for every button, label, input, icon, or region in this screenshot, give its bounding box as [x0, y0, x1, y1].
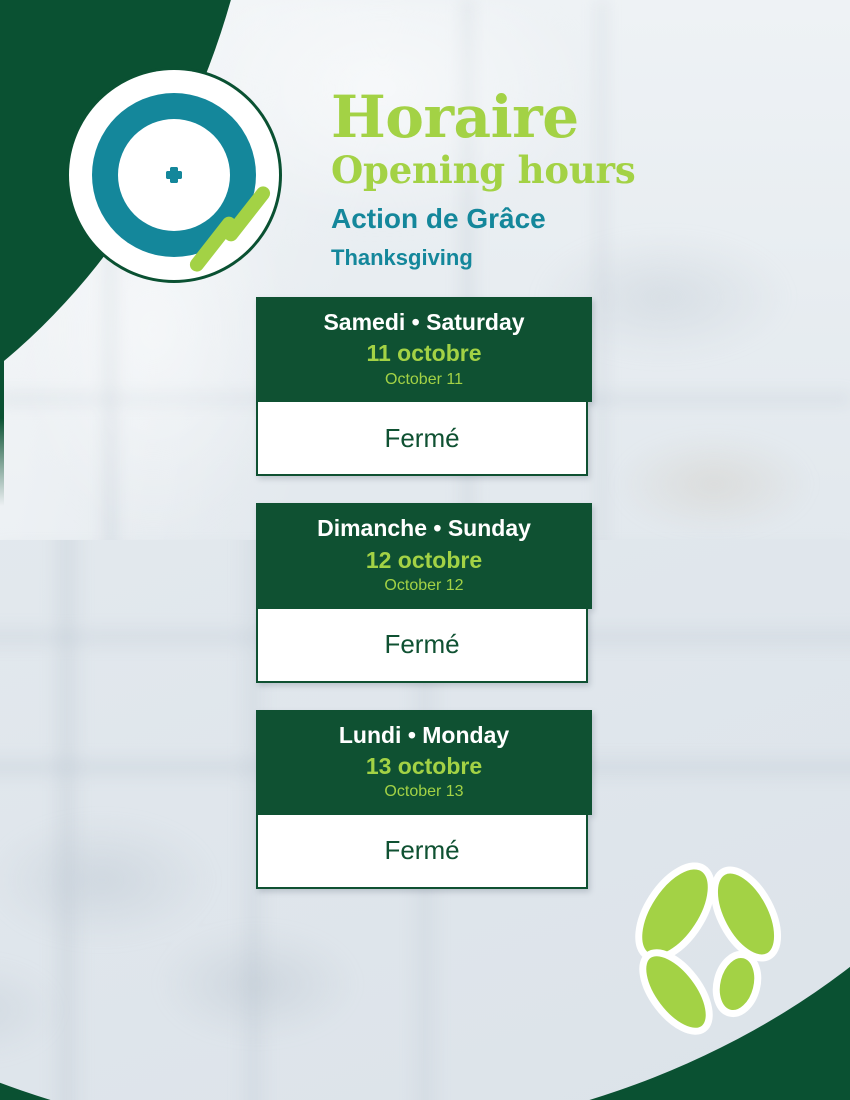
schedule-card-header: Dimanche • Sunday 12 octobre October 12 — [256, 503, 592, 608]
schedule-card-body: Fermé — [256, 402, 588, 476]
butterfly-logo-icon — [622, 862, 802, 1042]
schedule-card-header: Samedi • Saturday 11 octobre October 11 — [256, 297, 592, 402]
day-names: Dimanche • Sunday — [266, 515, 582, 541]
occasion-title-fr: Action de Grâce — [331, 205, 801, 233]
butterfly-wing-upper-left — [624, 862, 726, 970]
schedule-card: Samedi • Saturday 11 octobre October 11 … — [256, 297, 592, 476]
schedule-card-list: Samedi • Saturday 11 octobre October 11 … — [256, 297, 592, 889]
schedule-card: Dimanche • Sunday 12 octobre October 12 … — [256, 503, 592, 682]
date-fr: 12 octobre — [266, 547, 582, 573]
schedule-card-body: Fermé — [256, 815, 588, 889]
status-badge: Fermé — [384, 835, 459, 866]
butterfly-wing-lower-right — [710, 950, 763, 1018]
date-en: October 13 — [266, 783, 582, 801]
day-names: Samedi • Saturday — [266, 309, 582, 335]
date-en: October 11 — [266, 371, 582, 389]
occasion-title-en: Thanksgiving — [331, 247, 801, 269]
poster-headings: Horaire Opening hours Action de Grâce Th… — [331, 88, 801, 269]
butterfly-wing-lower-left — [630, 941, 722, 1042]
schedule-card-body: Fermé — [256, 609, 588, 683]
day-names: Lundi • Monday — [266, 722, 582, 748]
schedule-card: Lundi • Monday 13 octobre October 13 Fer… — [256, 710, 592, 889]
date-fr: 11 octobre — [266, 340, 582, 366]
clock-tick-9 — [166, 171, 182, 179]
page-title-en: Opening hours — [331, 152, 801, 189]
date-fr: 13 octobre — [266, 753, 582, 779]
schedule-card-header: Lundi • Monday 13 octobre October 13 — [256, 710, 592, 815]
clock-face — [118, 119, 230, 231]
left-edge-green-strip — [0, 0, 4, 1100]
status-badge: Fermé — [384, 423, 459, 454]
page-title-fr: Horaire — [331, 88, 801, 146]
date-en: October 12 — [266, 577, 582, 595]
status-badge: Fermé — [384, 629, 459, 660]
opening-hours-poster: Horaire Opening hours Action de Grâce Th… — [0, 0, 850, 1100]
clock-icon — [66, 67, 282, 283]
